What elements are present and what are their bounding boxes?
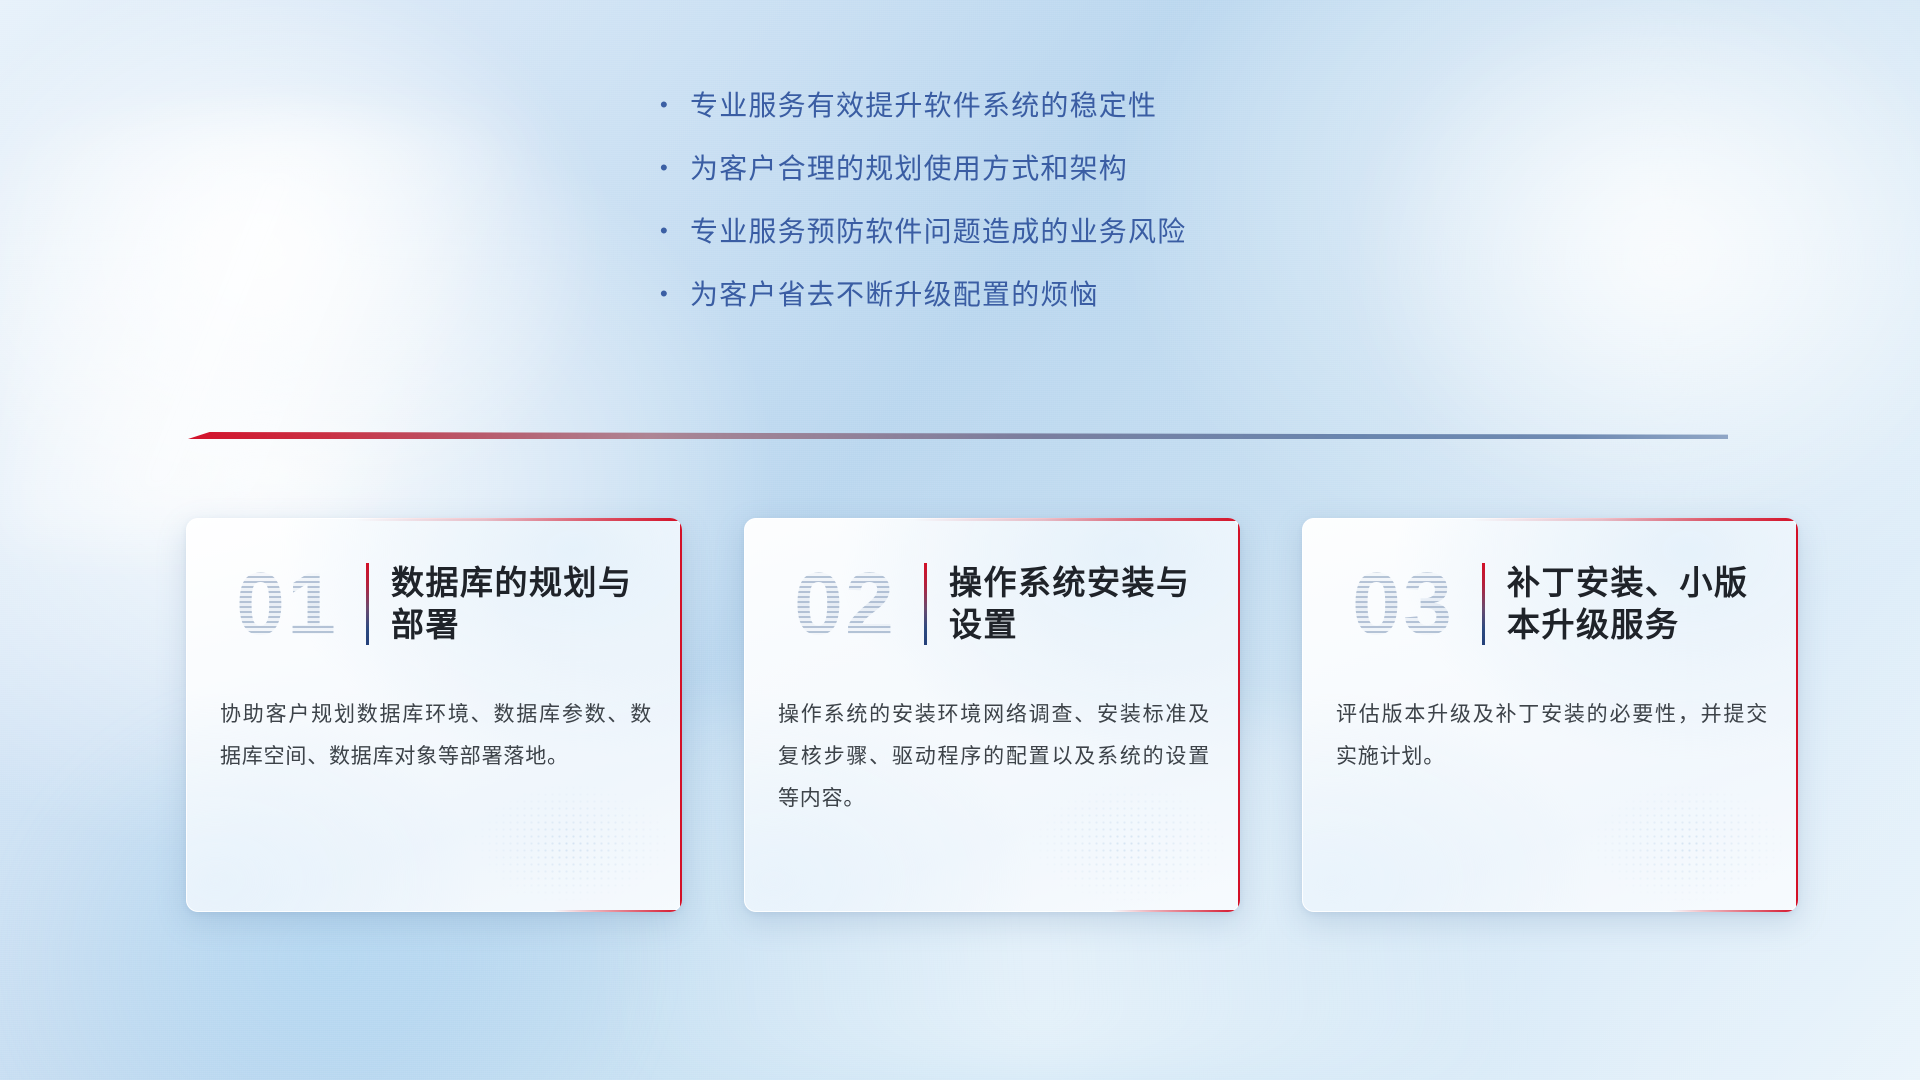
list-item: 专业服务预防软件问题造成的业务风险 — [660, 214, 1420, 249]
card-accent-bottom — [1669, 910, 1798, 913]
list-item: 为客户合理的规划使用方式和架构 — [660, 151, 1420, 186]
section-divider — [188, 432, 1728, 446]
card-number: 03 — [1328, 560, 1478, 648]
card-accent-top — [1471, 518, 1798, 521]
service-card-01[interactable]: 01 数据库的规划与部署 协助客户规划数据库环境、数据库参数、数据库空间、数据库… — [186, 518, 682, 912]
card-title: 补丁安装、小版本升级服务 — [1507, 562, 1798, 646]
card-dot-pattern — [472, 784, 672, 904]
list-item: 专业服务有效提升软件系统的稳定性 — [660, 88, 1420, 123]
card-header: 02 操作系统安装与设置 — [744, 544, 1240, 664]
bullet-text: 专业服务预防软件问题造成的业务风险 — [690, 214, 1186, 249]
service-card-03[interactable]: 03 补丁安装、小版本升级服务 评估版本升级及补丁安装的必要性，并提交实施计划。 — [1302, 518, 1798, 912]
card-accent-bottom — [553, 910, 682, 913]
card-number: 02 — [770, 560, 920, 648]
card-accent-bottom — [1111, 910, 1240, 913]
bullet-dot-icon — [660, 283, 690, 305]
list-item: 为客户省去不断升级配置的烦恼 — [660, 277, 1420, 312]
bullet-text: 为客户省去不断升级配置的烦恼 — [690, 277, 1099, 312]
card-body-text: 评估版本升级及补丁安装的必要性，并提交实施计划。 — [1336, 694, 1768, 778]
card-title: 数据库的规划与部署 — [391, 562, 682, 646]
divider-sheen — [188, 432, 1728, 439]
card-accent-top — [355, 518, 682, 521]
card-title: 操作系统安装与设置 — [949, 562, 1240, 646]
card-body-text: 协助客户规划数据库环境、数据库参数、数据库空间、数据库对象等部署落地。 — [220, 694, 652, 778]
bullet-dot-icon — [660, 220, 690, 242]
bullet-text: 专业服务有效提升软件系统的稳定性 — [690, 88, 1157, 123]
bullet-text: 为客户合理的规划使用方式和架构 — [690, 151, 1128, 186]
card-accent-top — [913, 518, 1240, 521]
bullet-dot-icon — [660, 94, 690, 116]
card-divider-rule — [924, 563, 927, 645]
bullet-dot-icon — [660, 157, 690, 179]
service-card-02[interactable]: 02 操作系统安装与设置 操作系统的安装环境网络调查、安装标准及复核步骤、驱动程… — [744, 518, 1240, 912]
card-dot-pattern — [1588, 784, 1788, 904]
benefits-bullet-list: 专业服务有效提升软件系统的稳定性 为客户合理的规划使用方式和架构 专业服务预防软… — [660, 88, 1420, 340]
card-divider-rule — [1482, 563, 1485, 645]
service-card-group: 01 数据库的规划与部署 协助客户规划数据库环境、数据库参数、数据库空间、数据库… — [186, 518, 1798, 922]
card-header: 03 补丁安装、小版本升级服务 — [1302, 544, 1798, 664]
card-body-text: 操作系统的安装环境网络调查、安装标准及复核步骤、驱动程序的配置以及系统的设置等内… — [778, 694, 1210, 820]
card-header: 01 数据库的规划与部署 — [186, 544, 682, 664]
card-divider-rule — [366, 563, 369, 645]
card-number: 01 — [212, 560, 362, 648]
